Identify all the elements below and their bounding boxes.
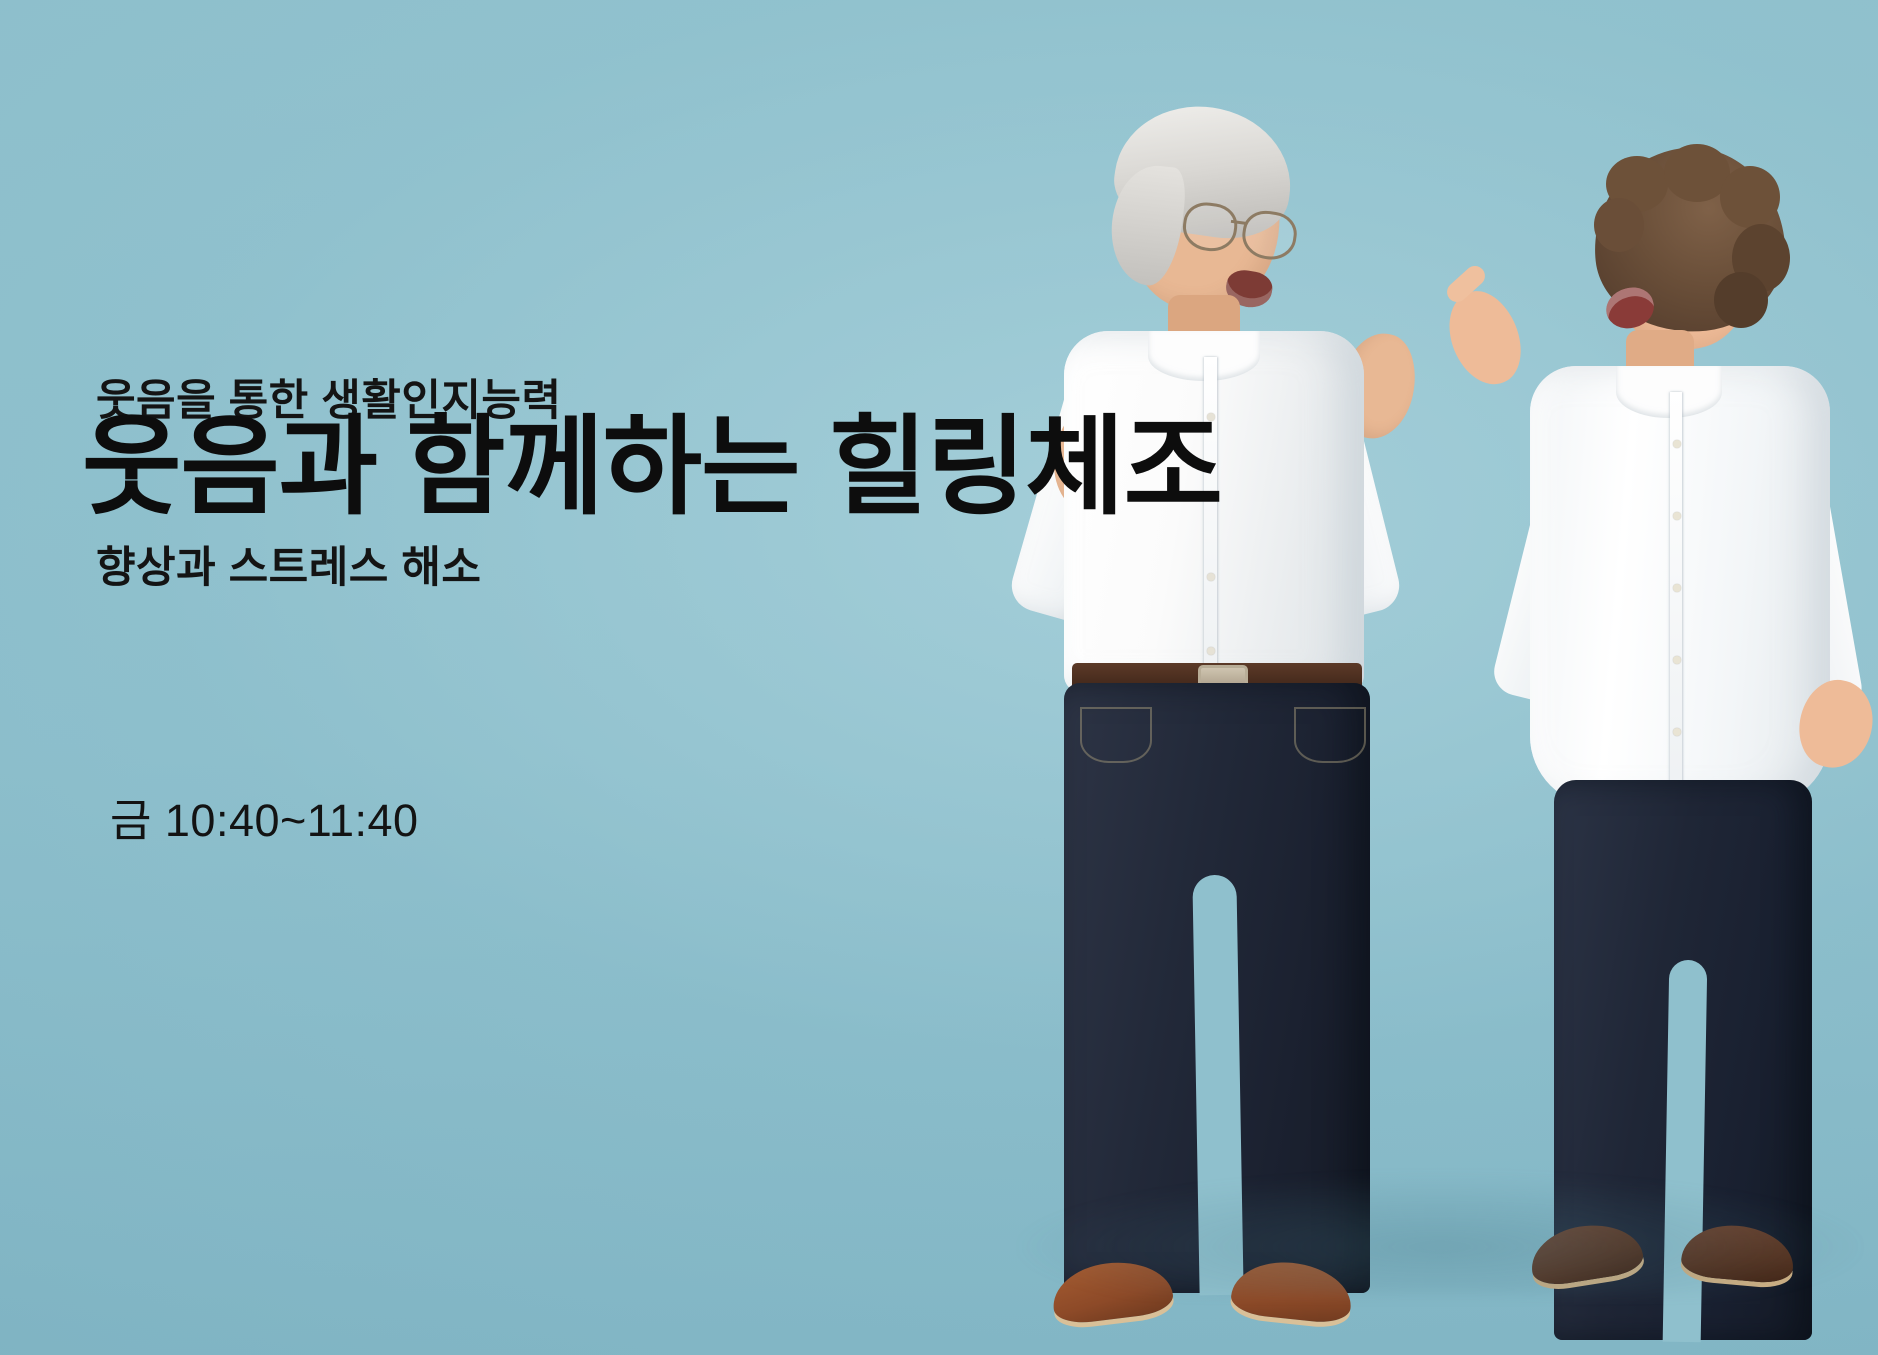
senior-woman-figure bbox=[1478, 140, 1878, 1320]
man-shirt-button bbox=[1207, 647, 1215, 655]
subtitle-line-2: 향상과 스트레스 해소 bbox=[96, 541, 562, 597]
schedule-text: 금 10:40~11:40 bbox=[110, 784, 419, 849]
page-title: 웃음과 함께하는 힐링체조 bbox=[82, 410, 1222, 523]
woman-shirt-button bbox=[1673, 440, 1681, 448]
woman-shirt-button bbox=[1673, 584, 1681, 592]
woman-leg-gap bbox=[1663, 960, 1708, 1343]
woman-hair-curl bbox=[1594, 198, 1644, 252]
senior-man-figure bbox=[980, 95, 1450, 1315]
woman-hair-curl bbox=[1720, 166, 1780, 228]
woman-shirt-button bbox=[1673, 512, 1681, 520]
poster-canvas: 웃음을 통한 생활인지능력 향상과 스트레스 해소 웃음과 함께하는 힐링체조 … bbox=[0, 0, 1878, 1355]
woman-shirt-button bbox=[1673, 656, 1681, 664]
woman-hair-curl bbox=[1714, 272, 1768, 328]
woman-shirt-button bbox=[1673, 728, 1681, 736]
woman-shirt-placket bbox=[1670, 392, 1682, 800]
man-leg-gap bbox=[1192, 875, 1243, 1296]
man-shirt-button bbox=[1207, 573, 1215, 581]
jeans-pocket bbox=[1080, 707, 1152, 763]
woman-shirt-collar bbox=[1616, 366, 1722, 418]
jeans-pocket bbox=[1294, 707, 1366, 763]
